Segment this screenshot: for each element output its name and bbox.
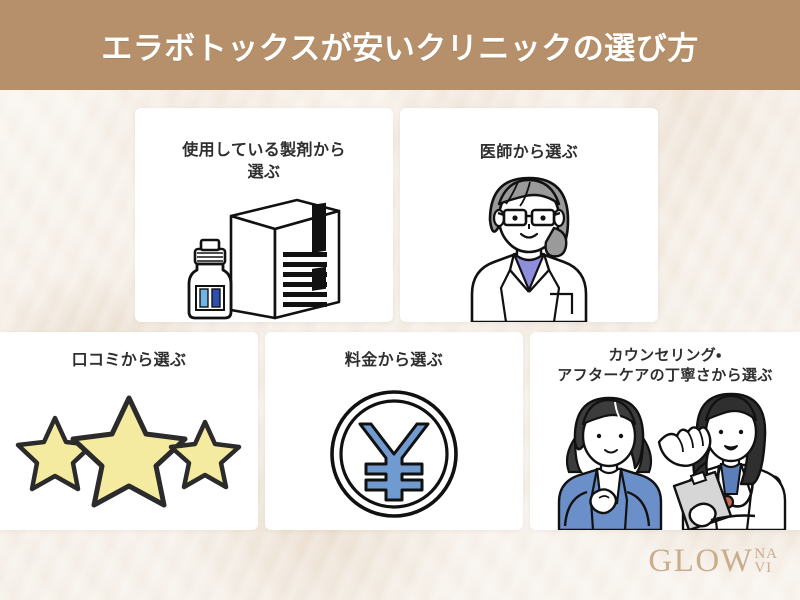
brand-logo-sub-text: NA VI bbox=[754, 547, 778, 576]
card-select-by-product[interactable]: 使用している製剤から 選ぶ bbox=[135, 108, 393, 322]
card-title-counseling-line1: カウンセリング・ bbox=[530, 346, 800, 366]
header-bar: エラボトックスが安いクリニックの選び方 bbox=[0, 0, 800, 90]
card-select-by-counseling[interactable]: カウンセリング・ アフターケアの丁寧さから選ぶ bbox=[530, 332, 800, 530]
card-select-by-price[interactable]: 料金から選ぶ bbox=[265, 332, 523, 530]
card-title-price-line1: 料金から選ぶ bbox=[265, 350, 523, 372]
brand-logo: GLOW NA VI bbox=[648, 545, 778, 578]
three-stars-icon bbox=[0, 380, 258, 520]
brand-logo-sub-bottom: VI bbox=[754, 561, 778, 575]
card-title-doctor-line1: 医師から選ぶ bbox=[400, 142, 658, 164]
page-title: エラボトックスが安いクリニックの選び方 bbox=[101, 23, 699, 68]
brand-logo-main-text: GLOW bbox=[648, 545, 753, 578]
yen-coin-icon bbox=[265, 378, 523, 520]
card-title-product-line1: 使用している製剤から bbox=[135, 140, 393, 162]
counseling-consultation-icon bbox=[530, 390, 800, 530]
card-title-counseling-line2: アフターケアの丁寧さから選ぶ bbox=[530, 366, 800, 386]
brand-logo-sub-top: NA bbox=[754, 547, 778, 561]
medicine-box-and-vial-icon bbox=[135, 190, 393, 322]
card-title-doctor: 医師から選ぶ bbox=[400, 142, 658, 164]
card-title-reviews: 口コミから選ぶ bbox=[0, 350, 258, 372]
card-select-by-doctor[interactable]: 医師から選ぶ bbox=[400, 108, 658, 322]
card-title-product: 使用している製剤から 選ぶ bbox=[135, 140, 393, 183]
card-title-product-line2: 選ぶ bbox=[135, 162, 393, 184]
card-title-counseling: カウンセリング・ アフターケアの丁寧さから選ぶ bbox=[530, 346, 800, 387]
card-title-reviews-line1: 口コミから選ぶ bbox=[0, 350, 258, 372]
card-select-by-reviews[interactable]: 口コミから選ぶ bbox=[0, 332, 258, 530]
card-title-price: 料金から選ぶ bbox=[265, 350, 523, 372]
female-doctor-icon bbox=[400, 166, 658, 322]
